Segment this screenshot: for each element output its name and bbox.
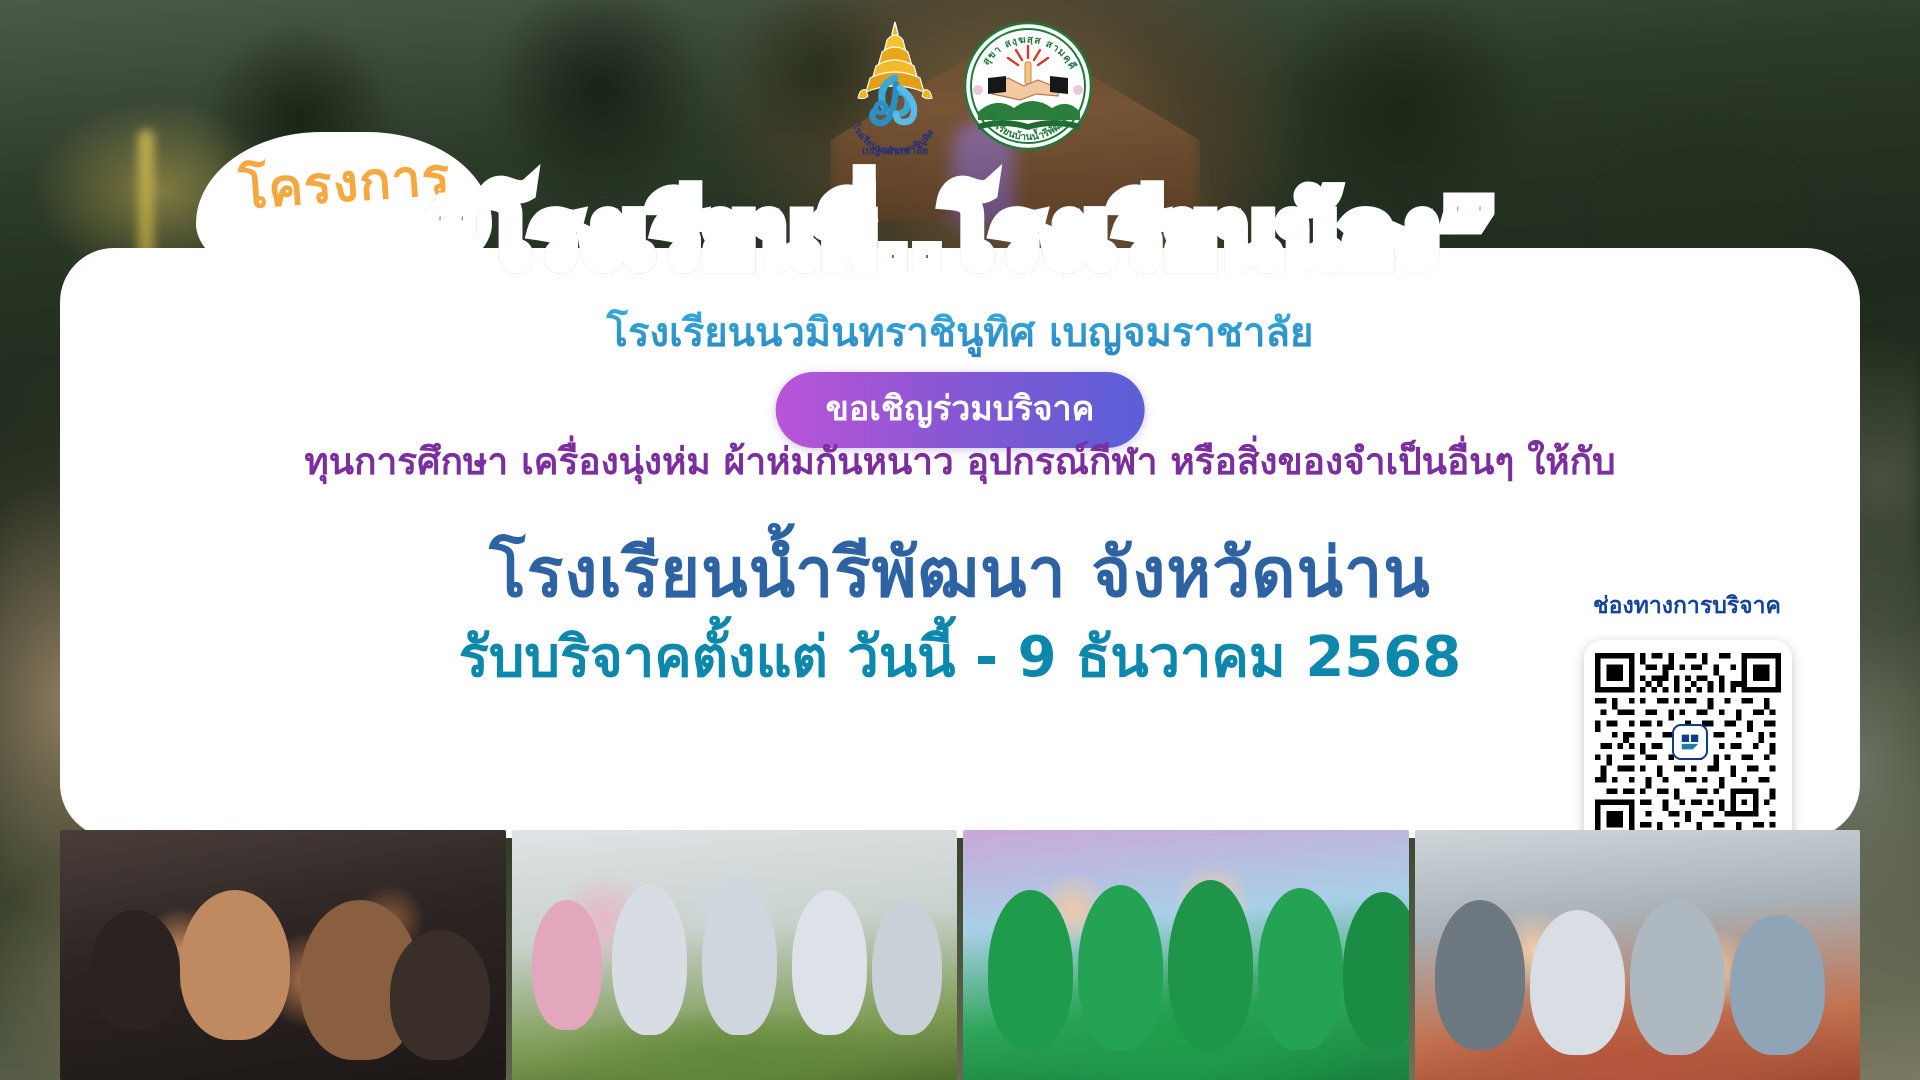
photo-children-holding-rice-plants <box>512 830 958 1080</box>
title-segment-4: น้อง” <box>1278 182 1497 287</box>
photo-students-green-uniform-corn <box>963 830 1409 1080</box>
donation-items-line: ทุนการศึกษา เครื่องนุ่งห่ม ผ้าห่มกันหนาว… <box>0 432 1920 491</box>
page-title: “โรงเรียนพี่..โรงเรียนน้อง” <box>0 188 1920 283</box>
title-segment-2: พี่ <box>816 182 875 287</box>
ban-namri-phatthana-school-logo: สุขา สงฺฆสฺส สามคฺคี โรงเรียนบ้านน้ำรีพั… <box>962 20 1094 152</box>
promptpay-bank-icon <box>1672 724 1708 760</box>
qr-label: ช่องทางการบริจาค <box>1572 588 1802 624</box>
photo-strip <box>60 830 1860 1080</box>
svg-text:เบญจมราชาลัย: เบญจมราชาลัย <box>862 145 928 157</box>
nawamintharachinuthit-benjamarachalai-logo: โรงเรียนนวมินทราชินูทิศ เบญจมราชาลัย <box>840 18 950 158</box>
title-segment-1: “โรงเรียน <box>423 182 816 287</box>
photo-children-sitting-outdoors <box>1415 830 1861 1080</box>
photo-children-eating <box>60 830 506 1080</box>
title-segment-3: ..โรงเรียน <box>876 182 1278 287</box>
host-school-name: โรงเรียนนวมินทราชินูทิศ เบญจมราชาลัย <box>0 300 1920 364</box>
donation-poster: โรงเรียนนวมินทราชินูทิศ เบญจมราชาลัย <box>0 0 1920 1080</box>
